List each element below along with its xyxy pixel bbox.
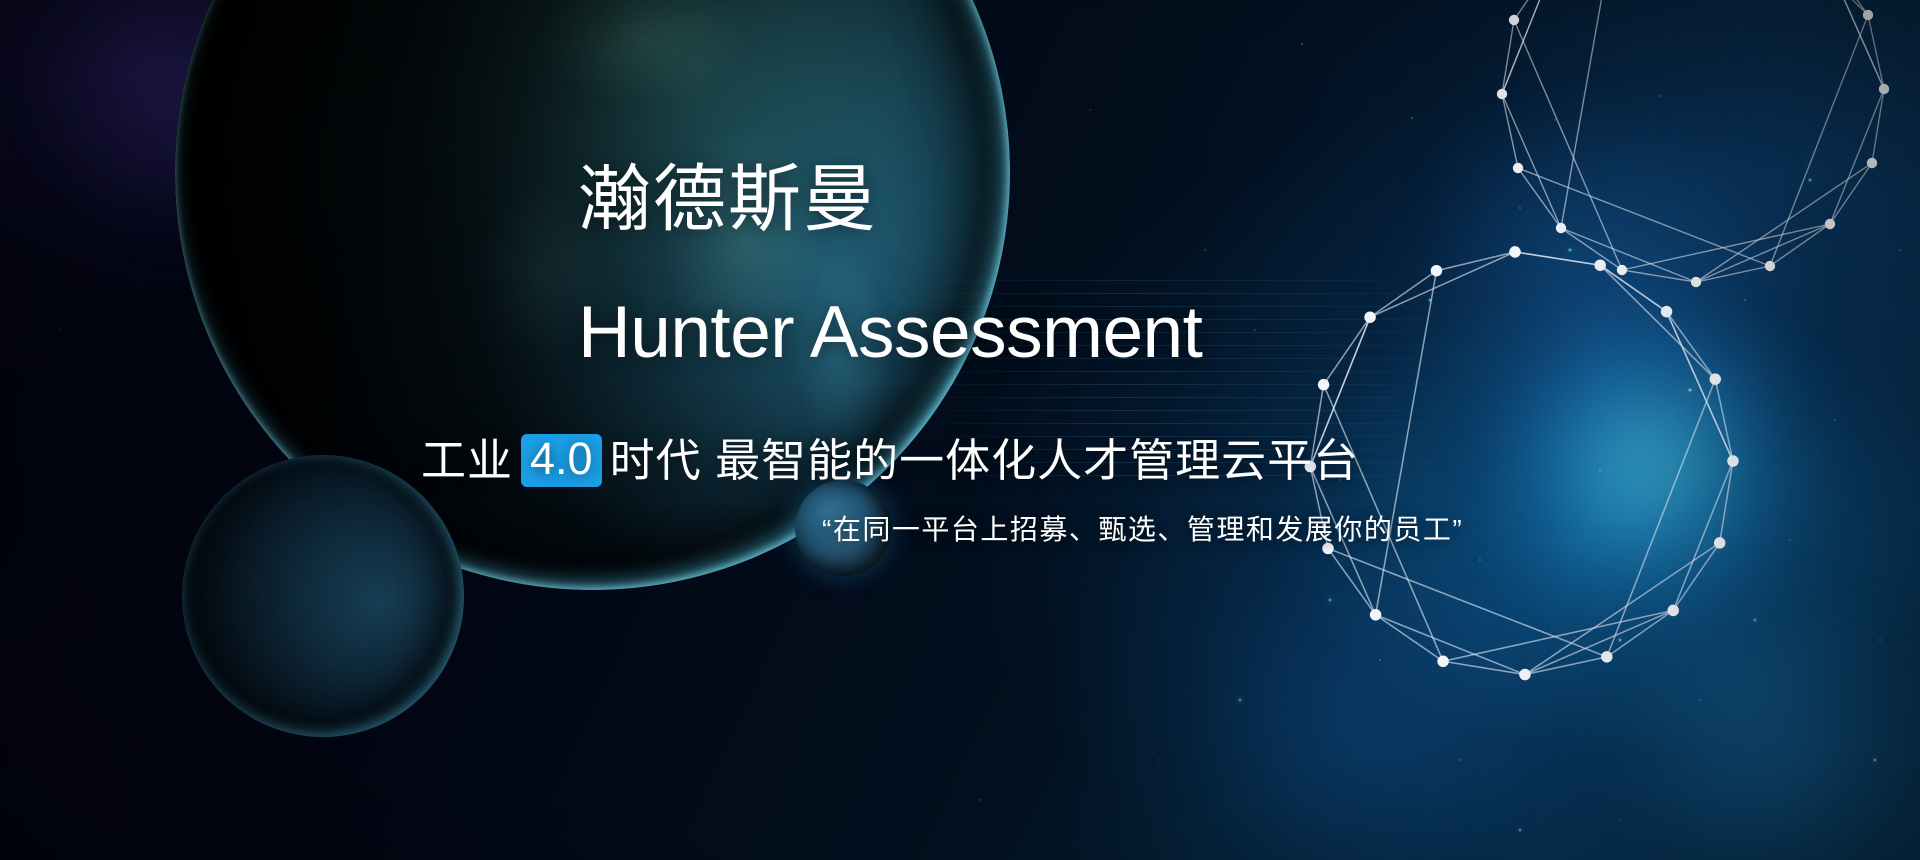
tagline: 工业 4.0 时代 最智能的一体化人才管理云平台: [421, 434, 1359, 487]
tagline-quote: “在同一平台上招募、甄选、管理和发展你的员工”: [822, 508, 1463, 548]
hero-text-block: 瀚德斯曼 Hunter Assessment 工业 4.0 时代 最智能的一体化…: [0, 0, 1920, 860]
tagline-suffix: 时代 最智能的一体化人才管理云平台: [610, 434, 1360, 487]
hero-banner: 瀚德斯曼 Hunter Assessment 工业 4.0 时代 最智能的一体化…: [0, 0, 1920, 860]
industry-version-badge: 4.0: [521, 434, 602, 487]
brand-title-english: Hunter Assessment: [578, 296, 1202, 369]
brand-title-chinese: 瀚德斯曼: [578, 163, 878, 236]
tagline-prefix: 工业: [421, 434, 513, 487]
